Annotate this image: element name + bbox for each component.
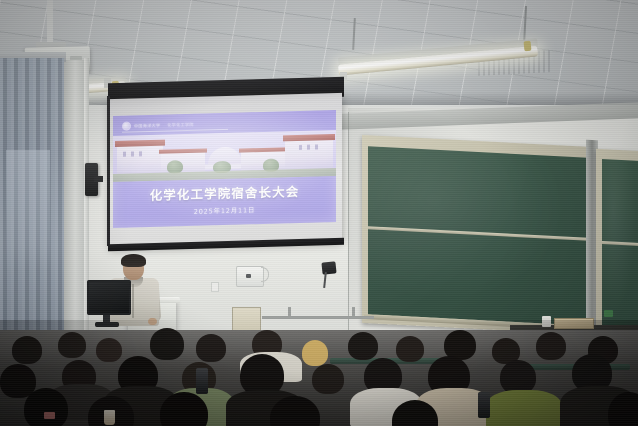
wall-box-indicator-icon	[246, 274, 251, 278]
exit-sign-icon	[604, 310, 613, 317]
presenter-zipper	[132, 284, 134, 318]
presenter-hair	[121, 254, 146, 267]
wall-rail-support	[352, 307, 355, 317]
audience-vignette	[0, 320, 638, 426]
projection-glow	[113, 110, 336, 228]
wall-rail-support	[288, 307, 291, 317]
wall-corner	[348, 112, 349, 342]
projector-mount-pole	[47, 0, 53, 44]
screen-edge	[107, 96, 110, 246]
lecture-hall-photo: 中国海洋大学 化学化工学院 化学化工学院宿	[0, 0, 638, 426]
speaker-bracket	[94, 176, 103, 182]
wall-switch-plate[interactable]	[211, 282, 219, 292]
light-end-cap	[524, 41, 532, 52]
wall-rail	[262, 316, 374, 319]
projected-slide: 中国海洋大学 化学化工学院 化学化工学院宿	[113, 110, 336, 228]
left-wall-column	[62, 60, 84, 360]
podium-monitor	[87, 280, 131, 315]
curtain-highlight	[6, 150, 50, 270]
